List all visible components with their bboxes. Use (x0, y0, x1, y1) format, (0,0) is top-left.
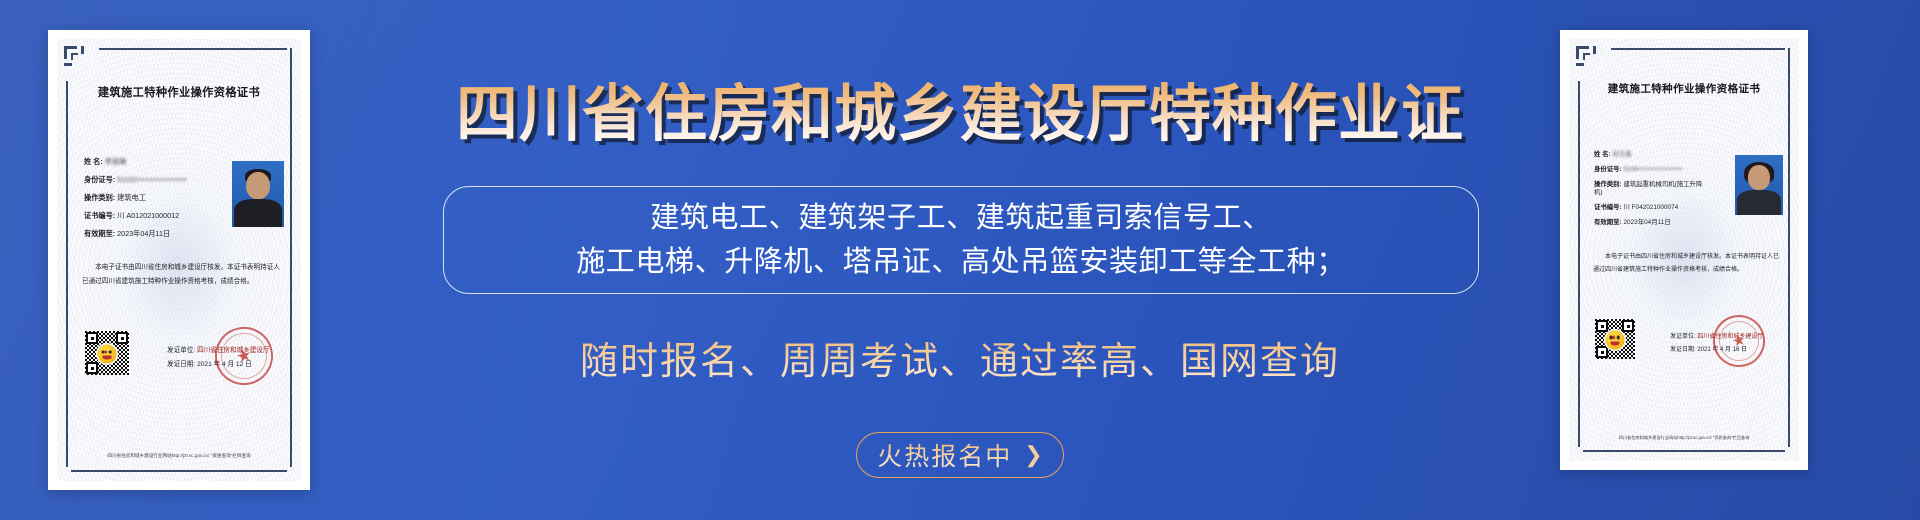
field-label: 有效期至: (1594, 219, 1622, 226)
field-id-number: 身份证号: 51102×××××××××××× (84, 175, 187, 184)
qr-center-emoji-icon (1606, 330, 1625, 349)
promo-banner: 建筑施工特种作业操作资格证书 姓 名: 李丽琳 身份证号: 51102×××××… (0, 0, 1920, 520)
field-name: 姓 名: 孙兰英 (1594, 151, 1704, 159)
certificate-card-right: 建筑施工特种作业操作资格证书 姓 名: 孙兰英 身份证号: 5104××××××… (1560, 30, 1808, 470)
certificate-fields: 姓 名: 李丽琳 身份证号: 51102×××××××××××× 操作类别: 建… (84, 157, 187, 247)
banner-headline: 四川省住房和城乡建设厅特种作业证 (360, 82, 1560, 147)
certificate-card-left: 建筑施工特种作业操作资格证书 姓 名: 李丽琳 身份证号: 51102×××××… (48, 30, 310, 490)
portrait-photo-male (232, 161, 284, 227)
field-valid-until: 有效期至: 2023年04月11日 (84, 229, 187, 238)
issuer-label: 发证单位: (1670, 334, 1696, 340)
field-operation-type: 操作类别: 建筑起重机械司机(施工升降机) (1594, 181, 1704, 197)
cert-border-right (290, 48, 292, 467)
field-value: 5104×××××××××××× (1623, 166, 1682, 173)
field-certificate-number: 证书编号: 川 F042021000074 (1594, 204, 1704, 212)
field-value: 建筑电工 (117, 193, 146, 202)
field-label: 姓 名: (84, 157, 103, 166)
qr-code-icon (85, 331, 129, 375)
field-label: 姓 名: (1594, 151, 1611, 158)
official-seal-icon: ★ (1707, 309, 1770, 372)
course-scope-line-1: 建筑电工、建筑架子工、建筑起重司索信号工、 (650, 196, 1272, 240)
banner-center-content: 四川省住房和城乡建设厅特种作业证 建筑电工、建筑架子工、建筑起重司索信号工、 施… (360, 0, 1560, 520)
certificate-footer: 四川省住房和城乡建设行业网站http://jzt.sc.gov.cn/ "资质查… (57, 453, 301, 459)
course-scope-box: 建筑电工、建筑架子工、建筑起重司索信号工、 施工电梯、升降机、塔吊证、高处吊篮安… (443, 186, 1479, 294)
field-value: 51102×××××××××××× (117, 175, 187, 184)
field-value: 孙兰英 (1612, 151, 1631, 158)
cert-border-left (66, 81, 68, 467)
field-name: 姓 名: 李丽琳 (84, 157, 187, 166)
certificate-inner-left: 建筑施工特种作业操作资格证书 姓 名: 李丽琳 身份证号: 51102×××××… (57, 39, 301, 481)
cert-border-bottom (71, 470, 287, 472)
banner-tagline: 随时报名、周周考试、通过率高、国网查询 (360, 330, 1560, 385)
field-value: 2023年04月11日 (117, 229, 170, 238)
certificate-note: 本电子证书由四川省住房和城乡建设厅核发。本证书表明持证人已通过四川省建筑施工特种… (1593, 251, 1780, 276)
issue-date-label: 发证日期: (1670, 347, 1696, 353)
field-value: 川 A012021000012 (117, 211, 179, 220)
field-value: 川 F042021000074 (1623, 204, 1678, 211)
issuer-label: 发证单位: (167, 347, 195, 354)
certificate-title: 建筑施工特种作业操作资格证书 (57, 84, 301, 100)
field-operation-type: 操作类别: 建筑电工 (84, 193, 187, 202)
cert-border-top (99, 48, 287, 50)
official-seal-icon: ★ (209, 321, 279, 391)
field-label: 证书编号: (84, 211, 115, 220)
cert-border-left (1578, 81, 1580, 447)
issue-date-label: 发证日期: (167, 361, 195, 368)
field-label: 证书编号: (1594, 204, 1622, 211)
field-label: 身份证号: (1594, 166, 1622, 173)
certificate-note: 本电子证书由四川省住房和城乡建设厅核发。本证书表明持证人已通过四川省建筑施工特种… (82, 261, 281, 289)
qr-center-emoji-icon (98, 344, 117, 363)
certificate-footer: 四川省住房和城乡建设行业网站http://jzt.sc.gov.cn/ "资质查… (1569, 435, 1799, 441)
chevron-right-icon: ❯ (1024, 444, 1042, 466)
chinese-fret-corner-icon (1576, 46, 1610, 80)
field-value: 2023年04月11日 (1623, 219, 1670, 226)
field-label: 操作类别: (84, 193, 115, 202)
field-label: 操作类别: (1594, 181, 1622, 188)
field-label: 身份证号: (84, 175, 115, 184)
portrait-photo-female (1735, 155, 1783, 215)
certificate-title: 建筑施工特种作业操作资格证书 (1569, 81, 1799, 96)
chinese-fret-corner-icon (64, 46, 98, 80)
cert-border-top (1611, 48, 1785, 50)
enroll-now-button[interactable]: 火热报名中 ❯ (856, 432, 1064, 478)
field-id-number: 身份证号: 5104×××××××××××× (1594, 166, 1704, 174)
field-label: 有效期至: (84, 229, 115, 238)
course-scope-line-2: 施工电梯、升降机、塔吊证、高处吊篮安装卸工等全工种； (576, 240, 1346, 284)
certificate-inner-right: 建筑施工特种作业操作资格证书 姓 名: 孙兰英 身份证号: 5104××××××… (1569, 39, 1799, 461)
qr-code-icon (1595, 319, 1635, 359)
field-certificate-number: 证书编号: 川 A012021000012 (84, 211, 187, 220)
certificate-fields: 姓 名: 孙兰英 身份证号: 5104×××××××××××× 操作类别: 建筑… (1594, 151, 1704, 234)
cert-border-right (1788, 48, 1790, 447)
cert-border-bottom (1583, 450, 1785, 452)
field-valid-until: 有效期至: 2023年04月11日 (1594, 219, 1704, 227)
enroll-now-label: 火热报名中 (877, 437, 1012, 473)
field-value: 李丽琳 (105, 157, 127, 166)
